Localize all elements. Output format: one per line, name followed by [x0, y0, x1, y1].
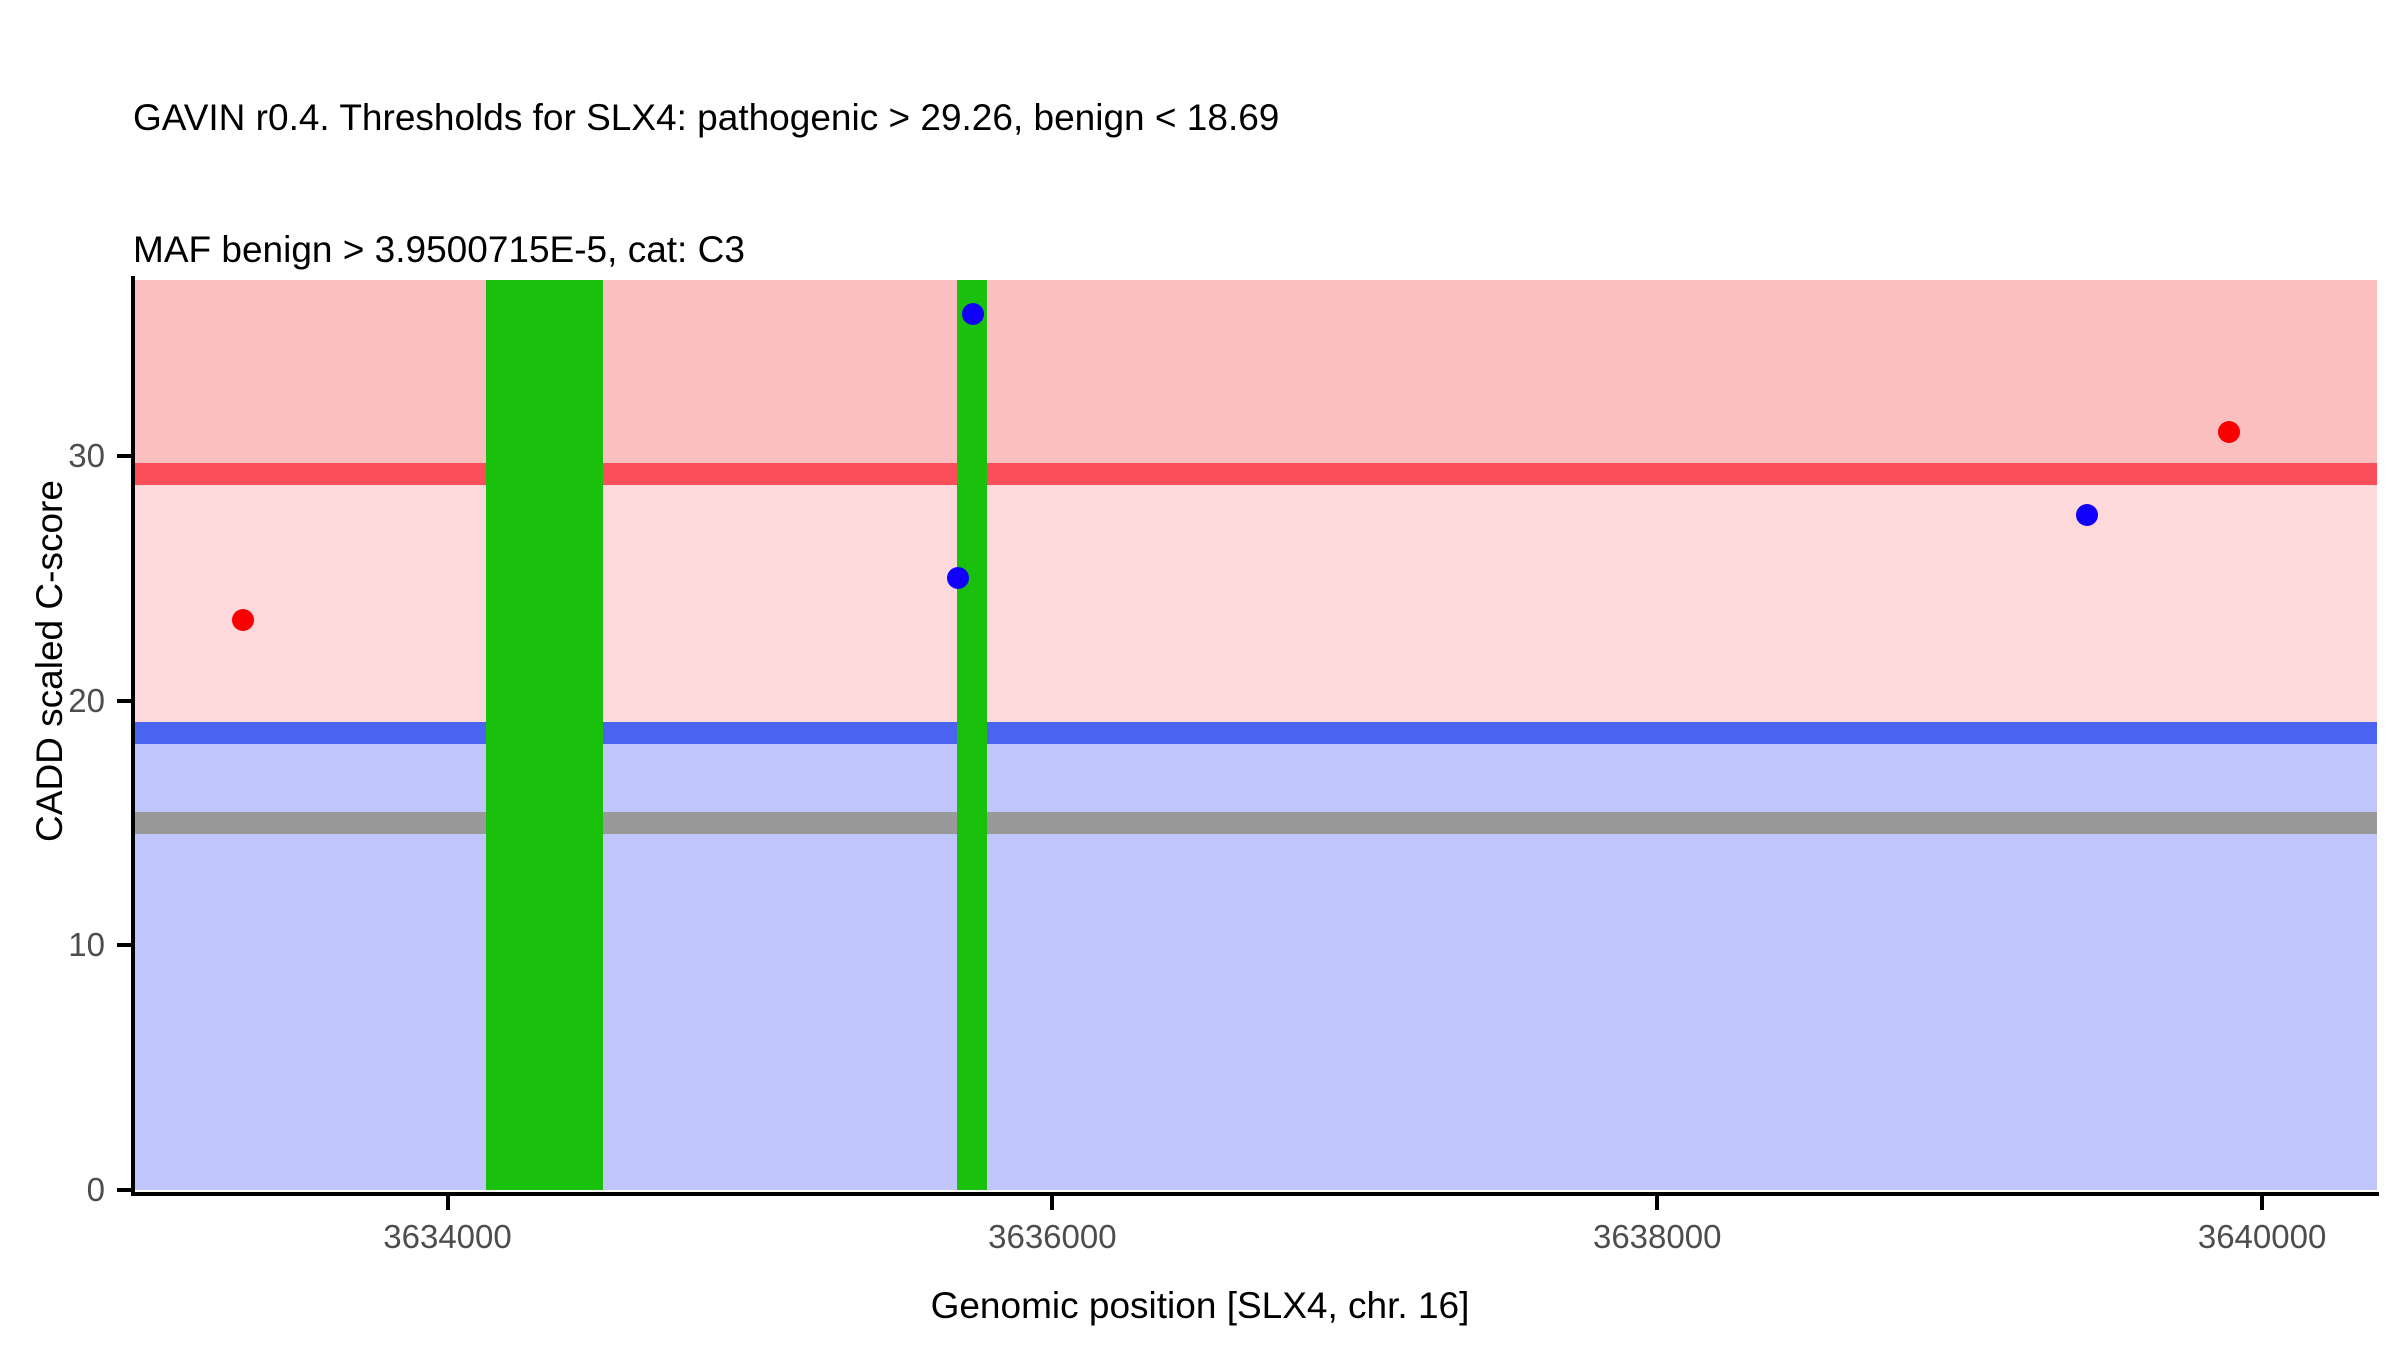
fallback-threshold-line — [133, 812, 2377, 834]
x-tick-mark — [1050, 1196, 1054, 1210]
x-tick-label: 3634000 — [383, 1218, 511, 1256]
x-tick-label: 3636000 — [988, 1218, 1116, 1256]
clinvar-variant-point — [2218, 421, 2240, 443]
title-line-1: GAVIN r0.4. Thresholds for SLX4: pathoge… — [133, 96, 2233, 140]
vus-zone — [133, 485, 2377, 732]
x-axis-title: Genomic position [SLX4, chr. 16] — [0, 1285, 2400, 1327]
title-line-2: MAF benign > 3.9500715E-5, cat: C3 — [133, 228, 2233, 272]
x-tick-mark — [446, 1196, 450, 1210]
pathogenic-zone — [133, 280, 2377, 474]
x-tick-label: 3640000 — [2198, 1218, 2326, 1256]
y-tick-mark — [117, 943, 131, 947]
y-tick-mark — [117, 454, 131, 458]
benign-threshold-line — [133, 722, 2377, 744]
chart-root: GAVIN r0.4. Thresholds for SLX4: pathoge… — [0, 0, 2400, 1350]
exon-2 — [957, 280, 987, 1190]
pathogenic-threshold-line — [133, 463, 2377, 485]
plot-panel — [133, 280, 2377, 1190]
y-tick-mark — [117, 1188, 131, 1192]
x-tick-mark — [2260, 1196, 2264, 1210]
y-axis-line — [131, 276, 135, 1194]
y-tick-mark — [117, 699, 131, 703]
y-axis-title: CADD scaled C-score — [29, 261, 71, 1061]
x-tick-label: 3638000 — [1593, 1218, 1721, 1256]
x-tick-mark — [1655, 1196, 1659, 1210]
gnomad-variant-point — [2076, 504, 2098, 526]
y-tick-label: 10 — [68, 926, 105, 964]
benign-zone — [133, 744, 2377, 1190]
y-tick-label: 30 — [68, 437, 105, 475]
x-axis-line — [131, 1192, 2379, 1196]
exon-1 — [486, 280, 603, 1190]
y-tick-label: 0 — [87, 1171, 105, 1209]
y-tick-label: 20 — [68, 682, 105, 720]
gnomad-variant-point — [962, 303, 984, 325]
gnomad-variant-point — [947, 567, 969, 589]
